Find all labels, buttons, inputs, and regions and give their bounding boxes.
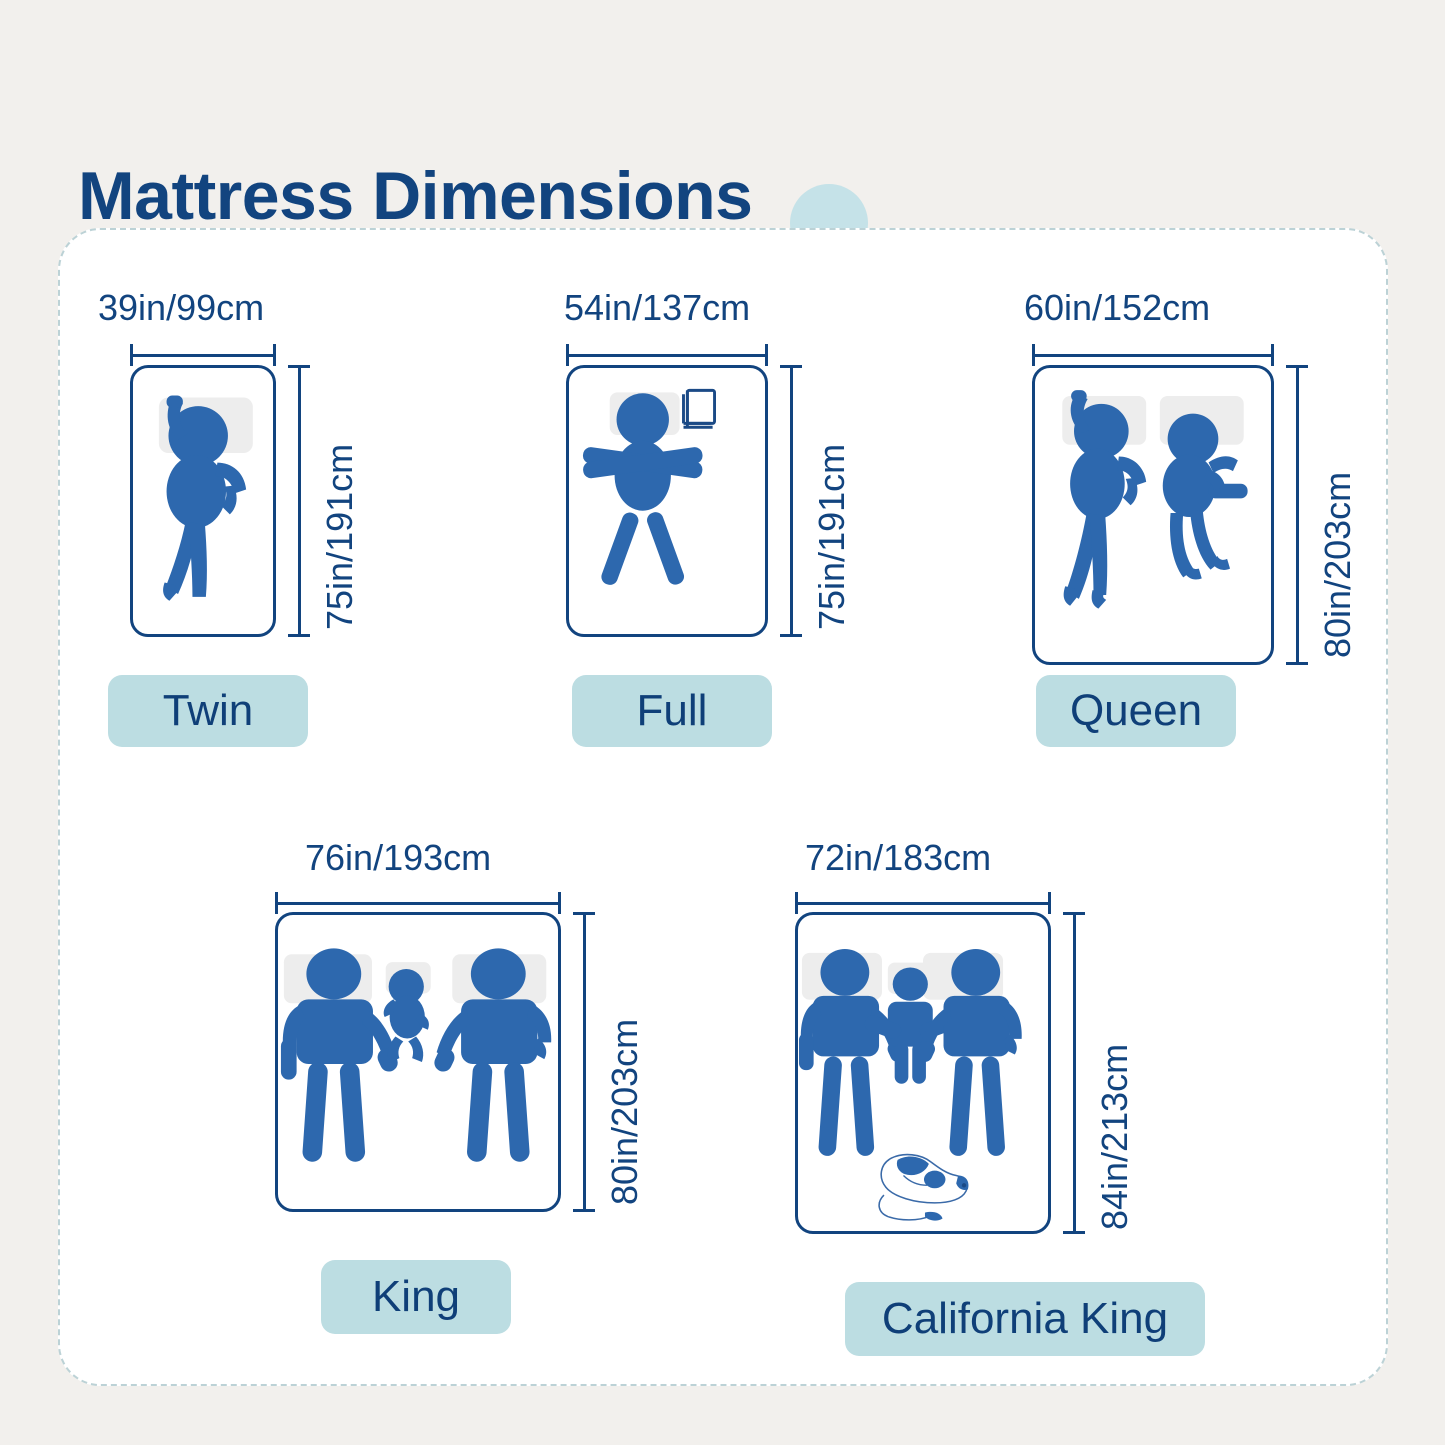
mattress-queen[interactable] [1032,365,1274,665]
king-length-label: 80in/203cm [607,1019,643,1205]
measure-bar [275,902,561,905]
measure-cap-right [558,892,561,914]
size-card-california-king: 72in/183cm [775,820,1275,1360]
mattress-full[interactable] [566,365,768,637]
king-width-label: 76in/193cm [305,840,491,876]
size-pill-full[interactable]: Full [572,675,772,747]
measure-bar [1073,912,1076,1234]
queen-length-measure [1286,365,1308,665]
measure-bar [790,365,793,637]
dimensions-panel: 39in/99cm [58,228,1388,1386]
queen-width-label: 60in/152cm [1024,290,1210,326]
cal-king-width-measure [795,892,1051,914]
full-length-label: 75in/191cm [814,444,850,630]
measure-cap-bottom [288,634,310,637]
measure-bar [130,354,276,357]
cal-king-length-label: 84in/213cm [1097,1044,1133,1230]
queen-length-label: 80in/203cm [1320,472,1356,658]
measure-cap-right [1048,892,1051,914]
mattress-twin[interactable] [130,365,276,637]
size-card-queen: 60in/152cm [980,230,1390,750]
twin-length-measure [288,365,310,637]
measure-cap-right [273,344,276,366]
measure-cap-bottom [1286,662,1308,665]
twin-width-measure [130,344,276,366]
measure-bar [298,365,301,637]
measure-bar [1032,354,1274,357]
size-pill-california-king[interactable]: California King [845,1282,1205,1356]
measure-cap-bottom [780,634,802,637]
dog-icon [879,1155,968,1221]
size-pill-king[interactable]: King [321,1260,511,1334]
size-card-full: 54in/137cm [520,230,960,750]
title-area: Mattress Dimensions [78,78,978,188]
twin-length-label: 75in/191cm [322,444,358,630]
size-card-twin: 39in/99cm [60,230,480,750]
measure-cap-bottom [573,1209,595,1212]
measure-cap-right [765,344,768,366]
queen-width-measure [1032,344,1274,366]
page-title: Mattress Dimensions [78,162,752,230]
size-card-king: 76in/193cm [245,820,725,1350]
mattress-king[interactable] [275,912,561,1212]
king-length-measure [573,912,595,1212]
twin-width-label: 39in/99cm [98,290,264,326]
cal-king-length-measure [1063,912,1085,1234]
full-length-measure [780,365,802,637]
measure-bar [1296,365,1299,665]
mattress-california-king[interactable] [795,912,1051,1234]
full-width-measure [566,344,768,366]
measure-bar [583,912,586,1212]
measure-cap-right [1271,344,1274,366]
king-width-measure [275,892,561,914]
measure-bar [566,354,768,357]
cal-king-width-label: 72in/183cm [805,840,991,876]
size-pill-queen[interactable]: Queen [1036,675,1236,747]
measure-cap-bottom [1063,1231,1085,1234]
full-width-label: 54in/137cm [564,290,750,326]
measure-bar [795,902,1051,905]
size-pill-twin[interactable]: Twin [108,675,308,747]
